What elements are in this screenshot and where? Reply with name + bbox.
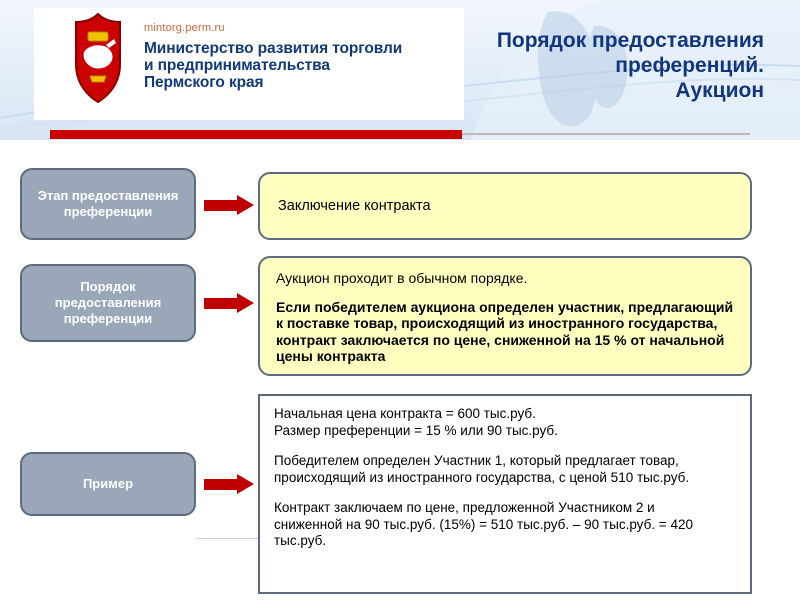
example-para2-line1: Победителем определен Участник 1, которы… bbox=[274, 453, 738, 470]
coat-of-arms-logo bbox=[62, 12, 134, 116]
arrow-icon bbox=[204, 474, 254, 494]
procedure-content-box: Аукцион проходит в обычном порядке. Если… bbox=[258, 256, 752, 376]
header-thin-rule bbox=[462, 133, 750, 135]
stage-label-box: Этап предоставления преференции bbox=[20, 168, 196, 240]
header-red-bar bbox=[50, 130, 462, 139]
example-para3-line2: сниженной на 90 тыс.руб. (15%) = 510 тыс… bbox=[274, 517, 738, 534]
divider-line bbox=[196, 538, 258, 539]
page-title-line-1: Порядок предоставления bbox=[364, 28, 764, 53]
page-title: Порядок предоставления преференций. Аукц… bbox=[364, 28, 764, 103]
procedure-label-box: Порядок предоставления преференции bbox=[20, 264, 196, 342]
slide-header: mintorg.perm.ru Министерство развития то… bbox=[0, 0, 800, 140]
example-content-box: Начальная цена контракта = 600 тыс.руб. … bbox=[258, 394, 752, 594]
arrow-icon bbox=[204, 293, 254, 313]
page-title-line-3: Аукцион bbox=[364, 78, 764, 103]
example-para1-line2: Размер преференции = 15 % или 90 тыс.руб… bbox=[274, 423, 738, 440]
page-title-line-2: преференций. bbox=[364, 53, 764, 78]
procedure-line-2: Если победителем аукциона определен учас… bbox=[276, 299, 736, 365]
example-para1-line1: Начальная цена контракта = 600 тыс.руб. bbox=[274, 406, 738, 423]
site-url: mintorg.perm.ru bbox=[144, 22, 225, 34]
procedure-line-1: Аукцион проходит в обычном порядке. bbox=[276, 270, 736, 287]
example-label-box: Пример bbox=[20, 452, 196, 516]
slide-body: Этап предоставления преференции Заключен… bbox=[0, 140, 800, 600]
example-para2-line2: происходящий из иностранного государства… bbox=[274, 470, 738, 487]
example-para3-line1: Контракт заключаем по цене, предложенной… bbox=[274, 500, 738, 517]
arrow-icon bbox=[204, 195, 254, 215]
example-para3-line3: тыс.руб. bbox=[274, 533, 738, 550]
stage-content-box: Заключение контракта bbox=[258, 172, 752, 240]
